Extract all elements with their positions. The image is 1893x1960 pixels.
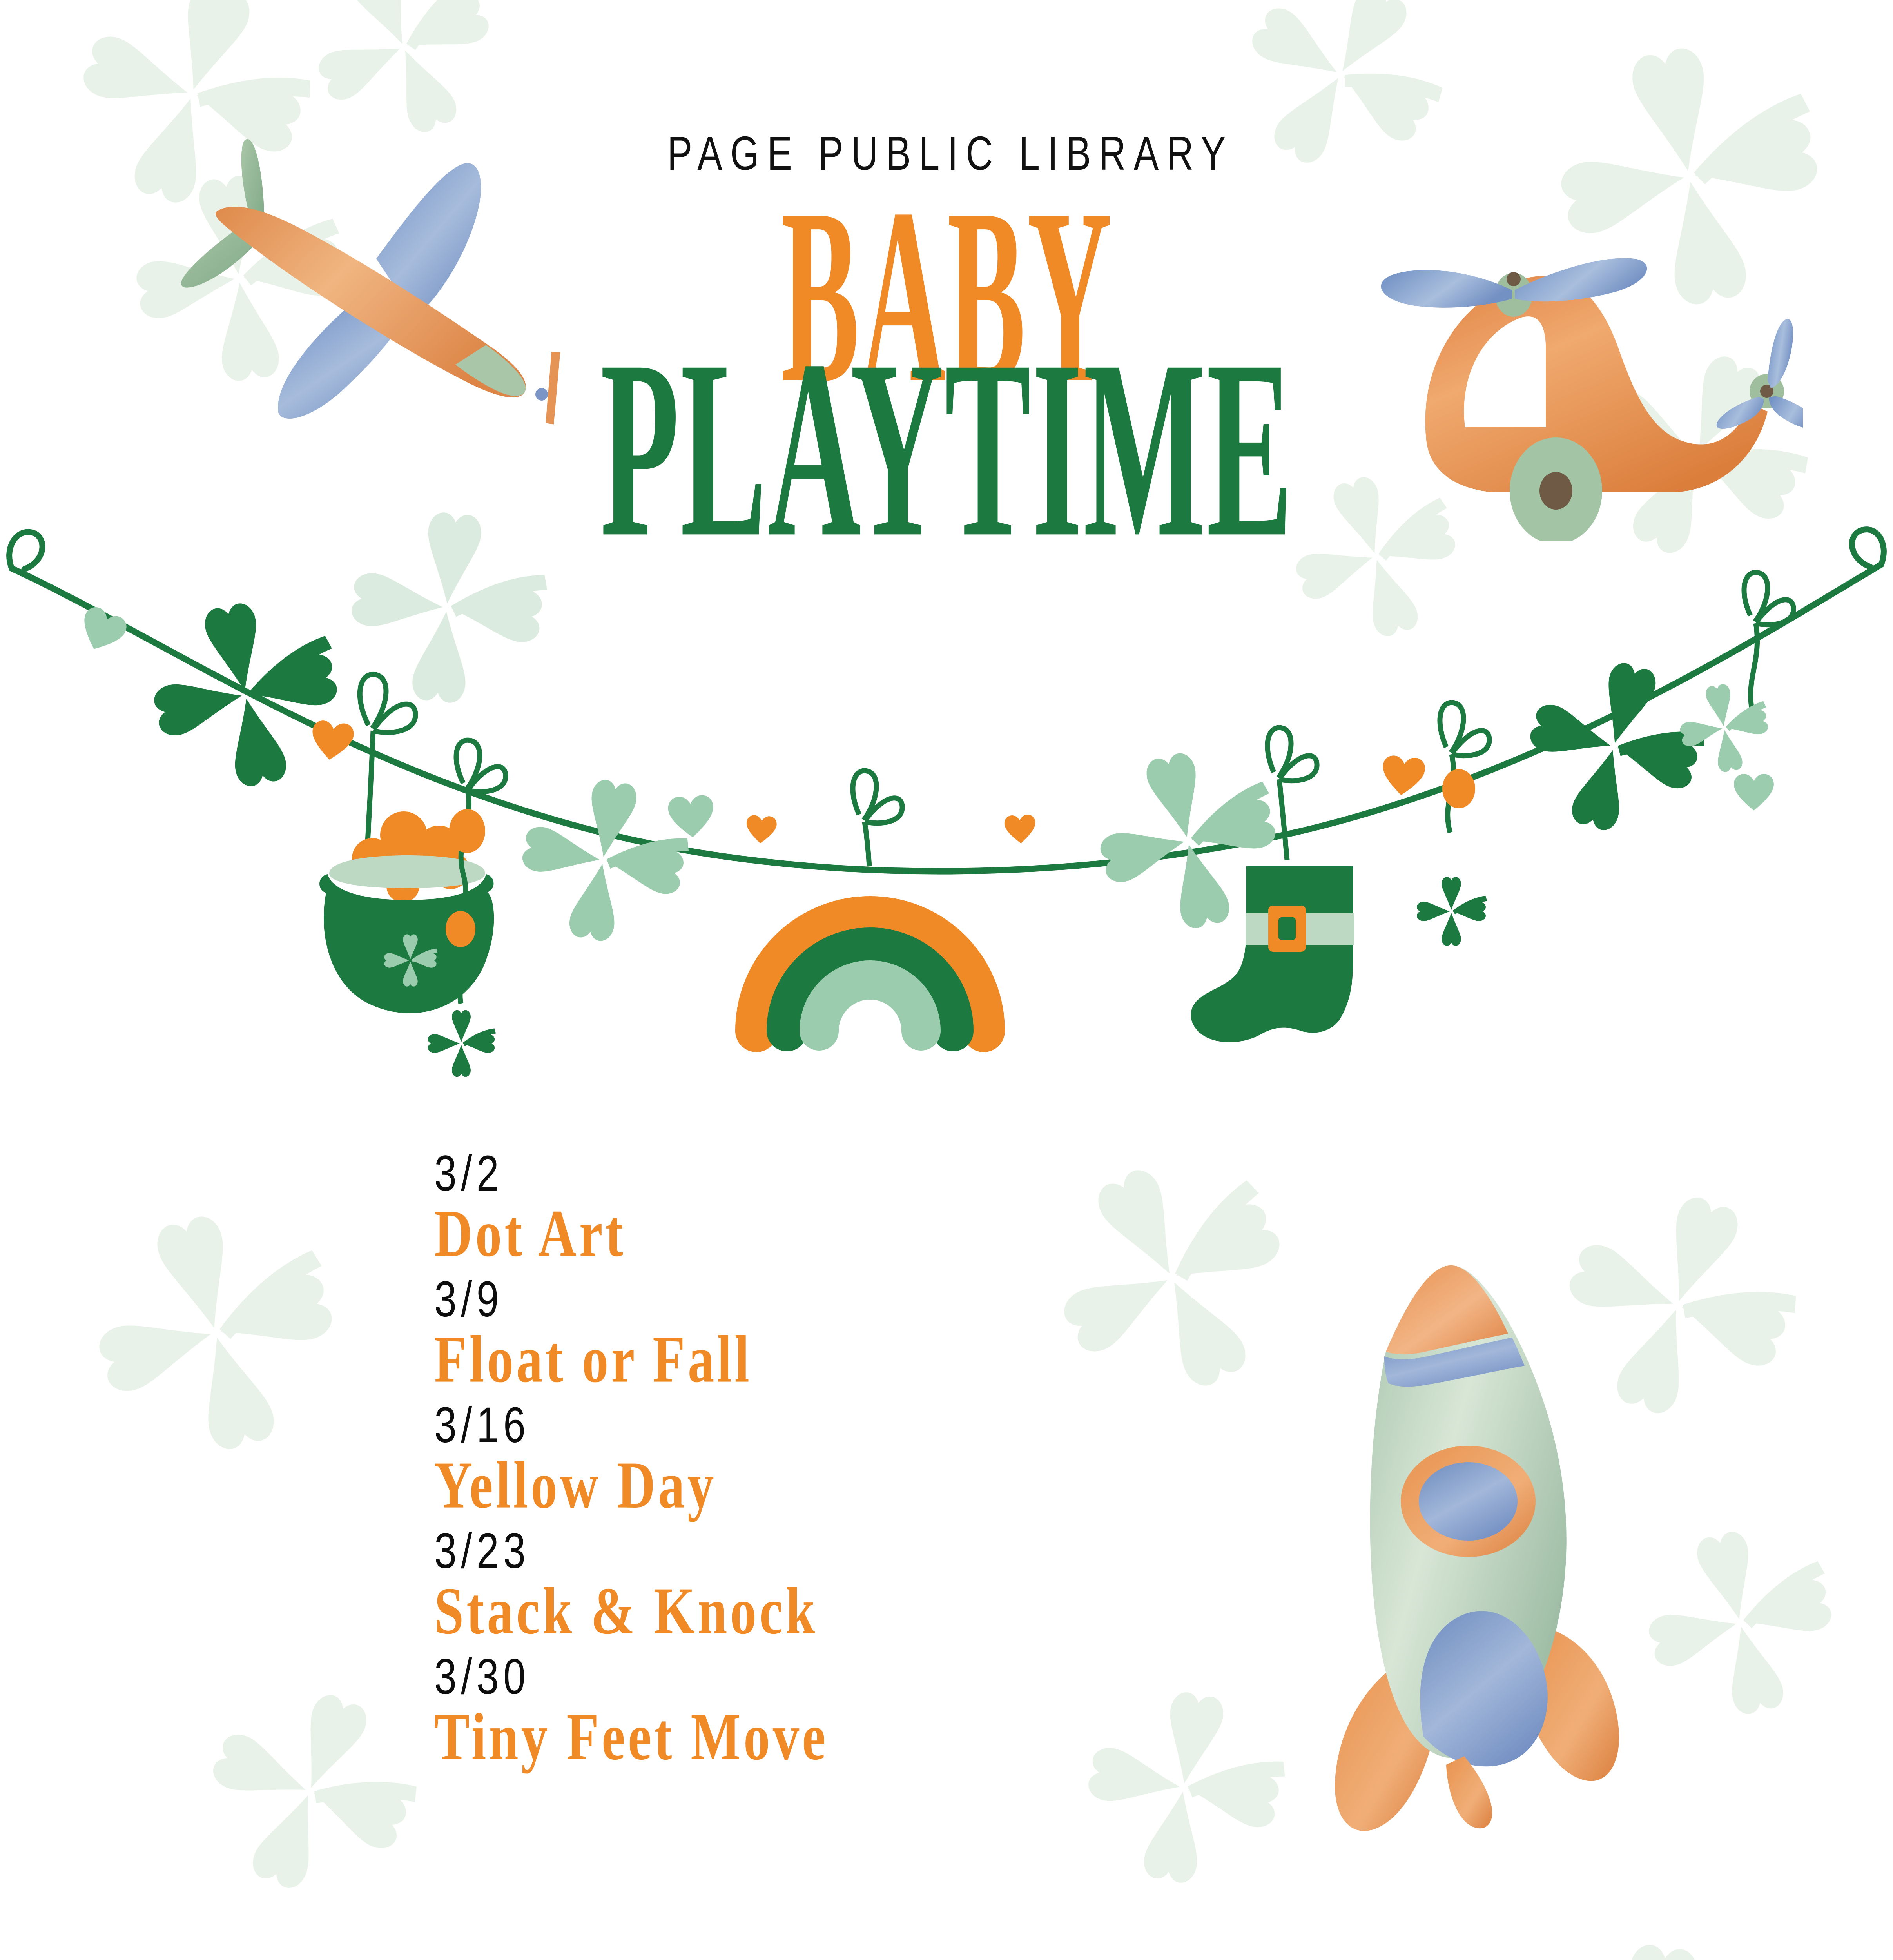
schedule-activity: Dot Art [434, 1200, 829, 1268]
schedule-activity: Stack & Knock [434, 1577, 829, 1645]
toy-rocket-illustration [1246, 1227, 1662, 1862]
schedule-date: 3/9 [434, 1274, 785, 1325]
schedule-activity: Yellow Day [434, 1451, 829, 1519]
schedule-item: 3/16 Yellow Day [434, 1400, 872, 1511]
schedule-item: 3/9 Float or Fall [434, 1274, 872, 1385]
schedule-item: 3/23 Stack & Knock [434, 1526, 872, 1637]
schedule-item: 3/2 Dot Art [434, 1149, 872, 1259]
poster-header: PAGE PUBLIC LIBRARY BABY PLAYTIME [0, 129, 1893, 506]
clover-watermark-icon [60, 1178, 371, 1488]
st-patricks-clover-garland [0, 521, 1893, 1117]
schedule-date: 3/16 [434, 1400, 785, 1450]
clover-watermark-icon [172, 1654, 448, 1929]
page-title-line-2: PLAYTIME [322, 342, 1571, 556]
schedule-list: 3/2 Dot Art 3/9 Float or Fall 3/16 Yello… [434, 1149, 872, 1778]
clover-watermark-icon [1504, 1920, 1796, 1960]
schedule-date: 3/30 [434, 1652, 785, 1702]
schedule-item: 3/30 Tiny Feet Move [434, 1652, 872, 1763]
schedule-activity: Tiny Feet Move [434, 1703, 829, 1771]
schedule-date: 3/23 [434, 1526, 785, 1576]
schedule-activity: Float or Fall [434, 1325, 829, 1394]
schedule-date: 3/2 [434, 1149, 785, 1199]
